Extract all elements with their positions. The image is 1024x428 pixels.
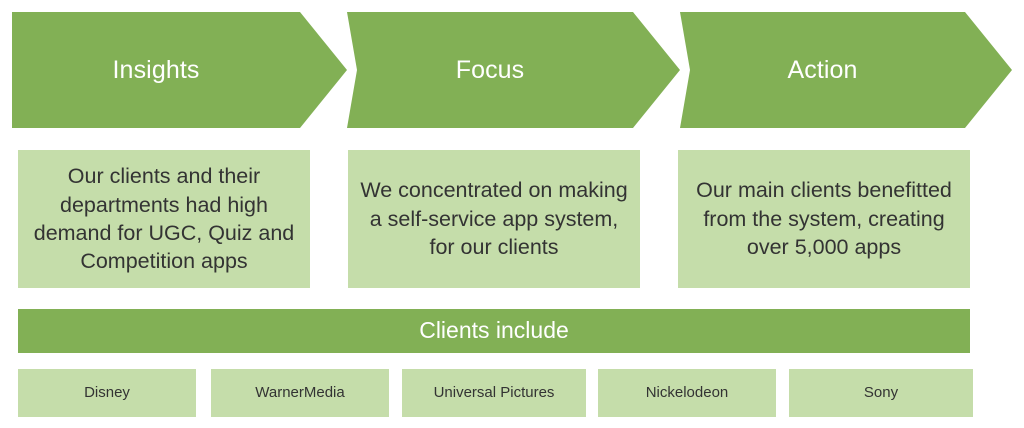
client-chip-row: Disney WarnerMedia Universal Pictures Ni… <box>0 369 1024 417</box>
stage-chevron-focus[interactable]: Focus <box>347 12 680 128</box>
client-chip-warnermedia[interactable]: WarnerMedia <box>211 369 389 417</box>
stage-description-action: Our main clients benefitted from the sys… <box>678 150 970 288</box>
client-chip-universal-pictures[interactable]: Universal Pictures <box>402 369 586 417</box>
stage-description-insights: Our clients and their departments had hi… <box>18 150 310 288</box>
stage-chevron-row: Insights Focus Action <box>0 0 1024 140</box>
clients-include-label: Clients include <box>419 317 569 345</box>
stage-description-focus: We concentrated on making a self-service… <box>348 150 640 288</box>
stage-description-text: Our main clients benefitted from the sys… <box>688 176 960 261</box>
client-chip-label: Sony <box>864 384 898 402</box>
client-chip-label: Nickelodeon <box>646 384 729 402</box>
stage-description-text: We concentrated on making a self-service… <box>358 176 630 261</box>
stage-chevron-insights[interactable]: Insights <box>12 12 347 128</box>
stage-description-text: Our clients and their departments had hi… <box>28 162 300 276</box>
client-chip-label: Disney <box>84 384 130 402</box>
client-chip-label: Universal Pictures <box>434 384 555 402</box>
process-infographic: Insights Focus Action Our clients and th… <box>0 0 1024 428</box>
stage-chevron-action[interactable]: Action <box>680 12 1012 128</box>
client-chip-label: WarnerMedia <box>255 384 344 402</box>
stage-chevron-label: Action <box>787 55 857 85</box>
client-chip-sony[interactable]: Sony <box>789 369 973 417</box>
stage-description-row: Our clients and their departments had hi… <box>0 150 1024 288</box>
stage-chevron-label: Insights <box>113 55 200 85</box>
client-chip-disney[interactable]: Disney <box>18 369 196 417</box>
client-chip-nickelodeon[interactable]: Nickelodeon <box>598 369 776 417</box>
clients-include-banner: Clients include <box>18 309 970 353</box>
stage-chevron-label: Focus <box>456 55 525 85</box>
